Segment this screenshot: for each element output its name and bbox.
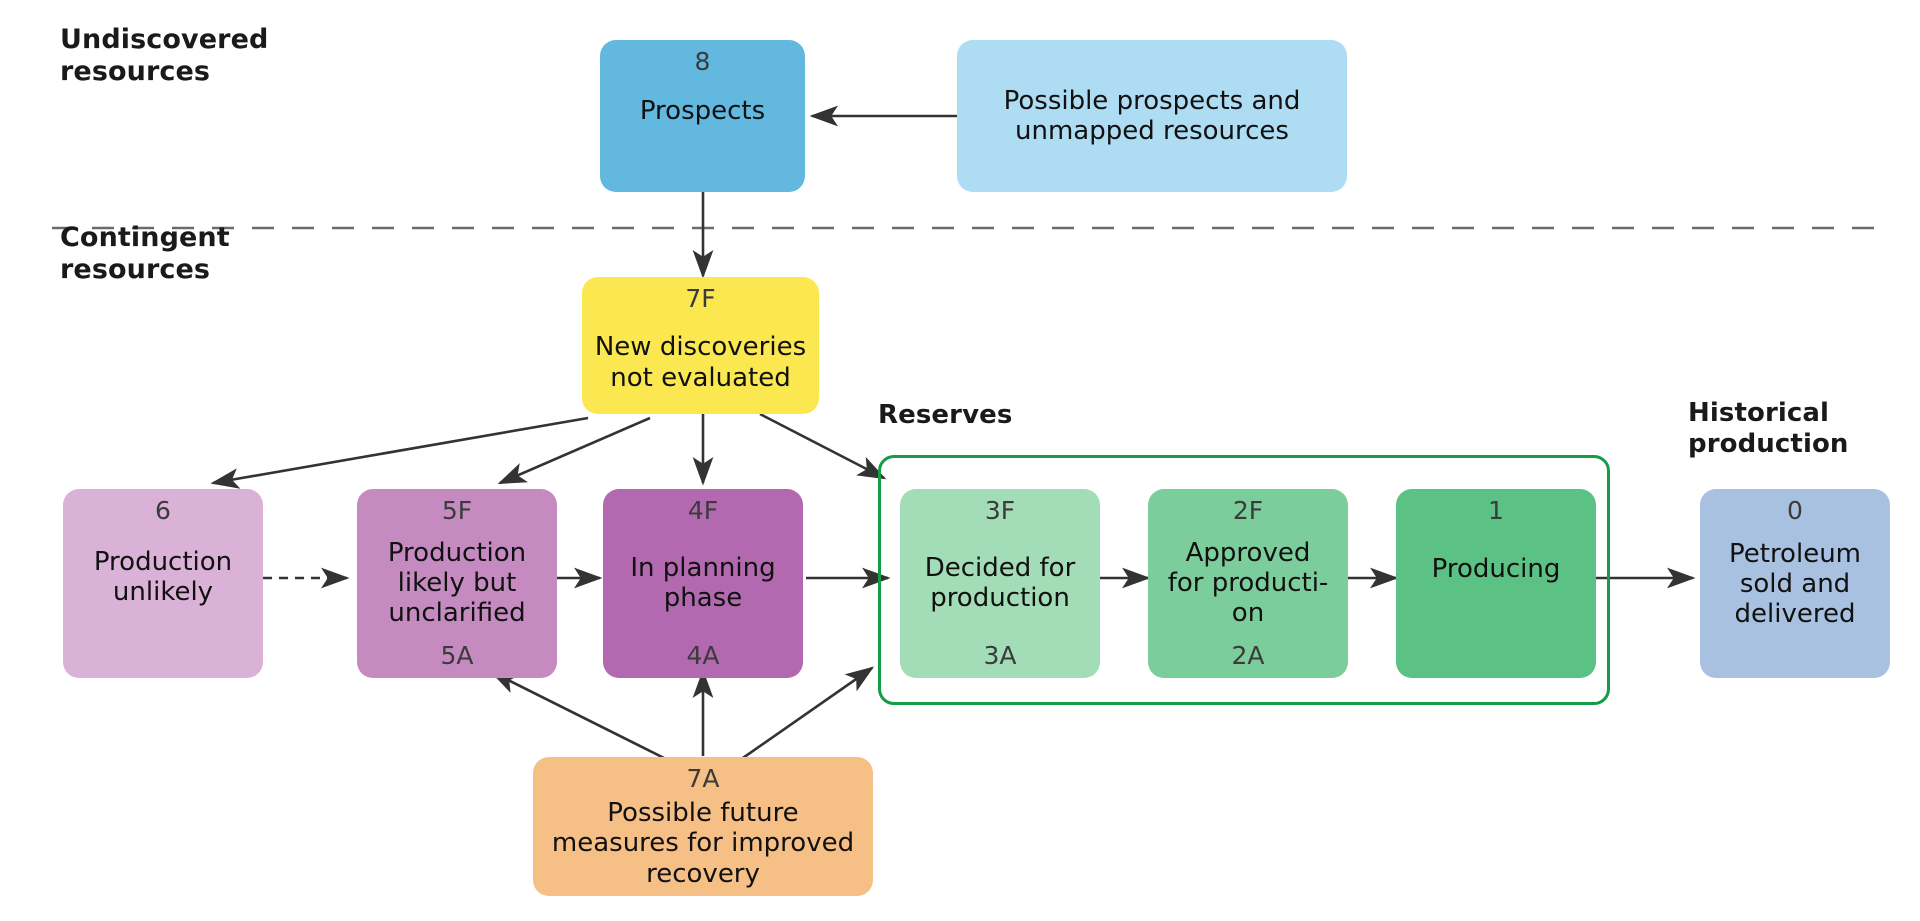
node-production-unlikely-code: 6: [155, 498, 171, 523]
node-producing-label: Producing: [1426, 554, 1567, 584]
node-decided-for-production-label: Decided for production: [919, 553, 1082, 613]
caption-historical-production: Historical production: [1688, 398, 1849, 459]
node-prospects-code: 8: [695, 49, 711, 74]
node-approved-for-production-label: Approved for producti- on: [1162, 538, 1335, 628]
node-in-planning-phase[interactable]: 4F In planning phase 4A: [603, 489, 803, 678]
caption-undiscovered-resources: Undiscovered resources: [60, 24, 268, 88]
edge-future-to-reserves: [740, 668, 872, 760]
edge-future-to-likely: [492, 672, 668, 760]
node-future-measures-code: 7A: [686, 766, 719, 791]
node-approved-for-production-code-bottom: 2A: [1231, 643, 1264, 668]
node-new-discoveries-label: New discoveries not evaluated: [589, 332, 812, 392]
node-production-unlikely-label: Production unlikely: [88, 547, 238, 607]
node-producing-code: 1: [1488, 498, 1504, 523]
edge-discoveries-to-likely: [500, 418, 650, 483]
resource-classification-diagram: Undiscovered resources Contingent resour…: [0, 0, 1920, 921]
node-petroleum-sold-label: Petroleum sold and delivered: [1723, 539, 1867, 629]
node-approved-for-production[interactable]: 2F Approved for producti- on 2A: [1148, 489, 1348, 678]
node-petroleum-sold-code: 0: [1787, 498, 1803, 523]
node-prospects[interactable]: 8 Prospects: [600, 40, 805, 192]
node-decided-for-production-code-top: 3F: [985, 498, 1015, 523]
node-in-planning-phase-code-top: 4F: [688, 498, 718, 523]
caption-contingent-resources: Contingent resources: [60, 222, 230, 286]
node-future-measures-label: Possible future measures for improved re…: [546, 798, 860, 888]
node-producing[interactable]: 1 Producing: [1396, 489, 1596, 678]
node-in-planning-phase-label: In planning phase: [624, 553, 781, 613]
node-decided-for-production-code-bottom: 3A: [983, 643, 1016, 668]
node-production-likely[interactable]: 5F Production likely but unclarified 5A: [357, 489, 557, 678]
node-petroleum-sold[interactable]: 0 Petroleum sold and delivered: [1700, 489, 1890, 678]
node-prospects-label: Prospects: [634, 96, 771, 126]
node-production-unlikely[interactable]: 6 Production unlikely: [63, 489, 263, 678]
node-future-measures[interactable]: 7A Possible future measures for improved…: [533, 757, 873, 896]
node-decided-for-production[interactable]: 3F Decided for production 3A: [900, 489, 1100, 678]
node-in-planning-phase-code-bottom: 4A: [686, 643, 719, 668]
node-new-discoveries[interactable]: 7F New discoveries not evaluated: [582, 277, 819, 414]
node-possible-prospects[interactable]: Possible prospects and unmapped resource…: [957, 40, 1347, 192]
node-production-likely-code-bottom: 5A: [440, 643, 473, 668]
node-new-discoveries-code: 7F: [685, 286, 715, 311]
node-approved-for-production-code-top: 2F: [1233, 498, 1263, 523]
node-possible-prospects-label: Possible prospects and unmapped resource…: [998, 86, 1307, 146]
caption-reserves: Reserves: [878, 400, 1012, 431]
node-production-likely-label: Production likely but unclarified: [382, 538, 532, 628]
node-production-likely-code-top: 5F: [442, 498, 472, 523]
edge-discoveries-to-unlikely: [213, 418, 588, 483]
edge-discoveries-to-reserves: [760, 414, 884, 478]
